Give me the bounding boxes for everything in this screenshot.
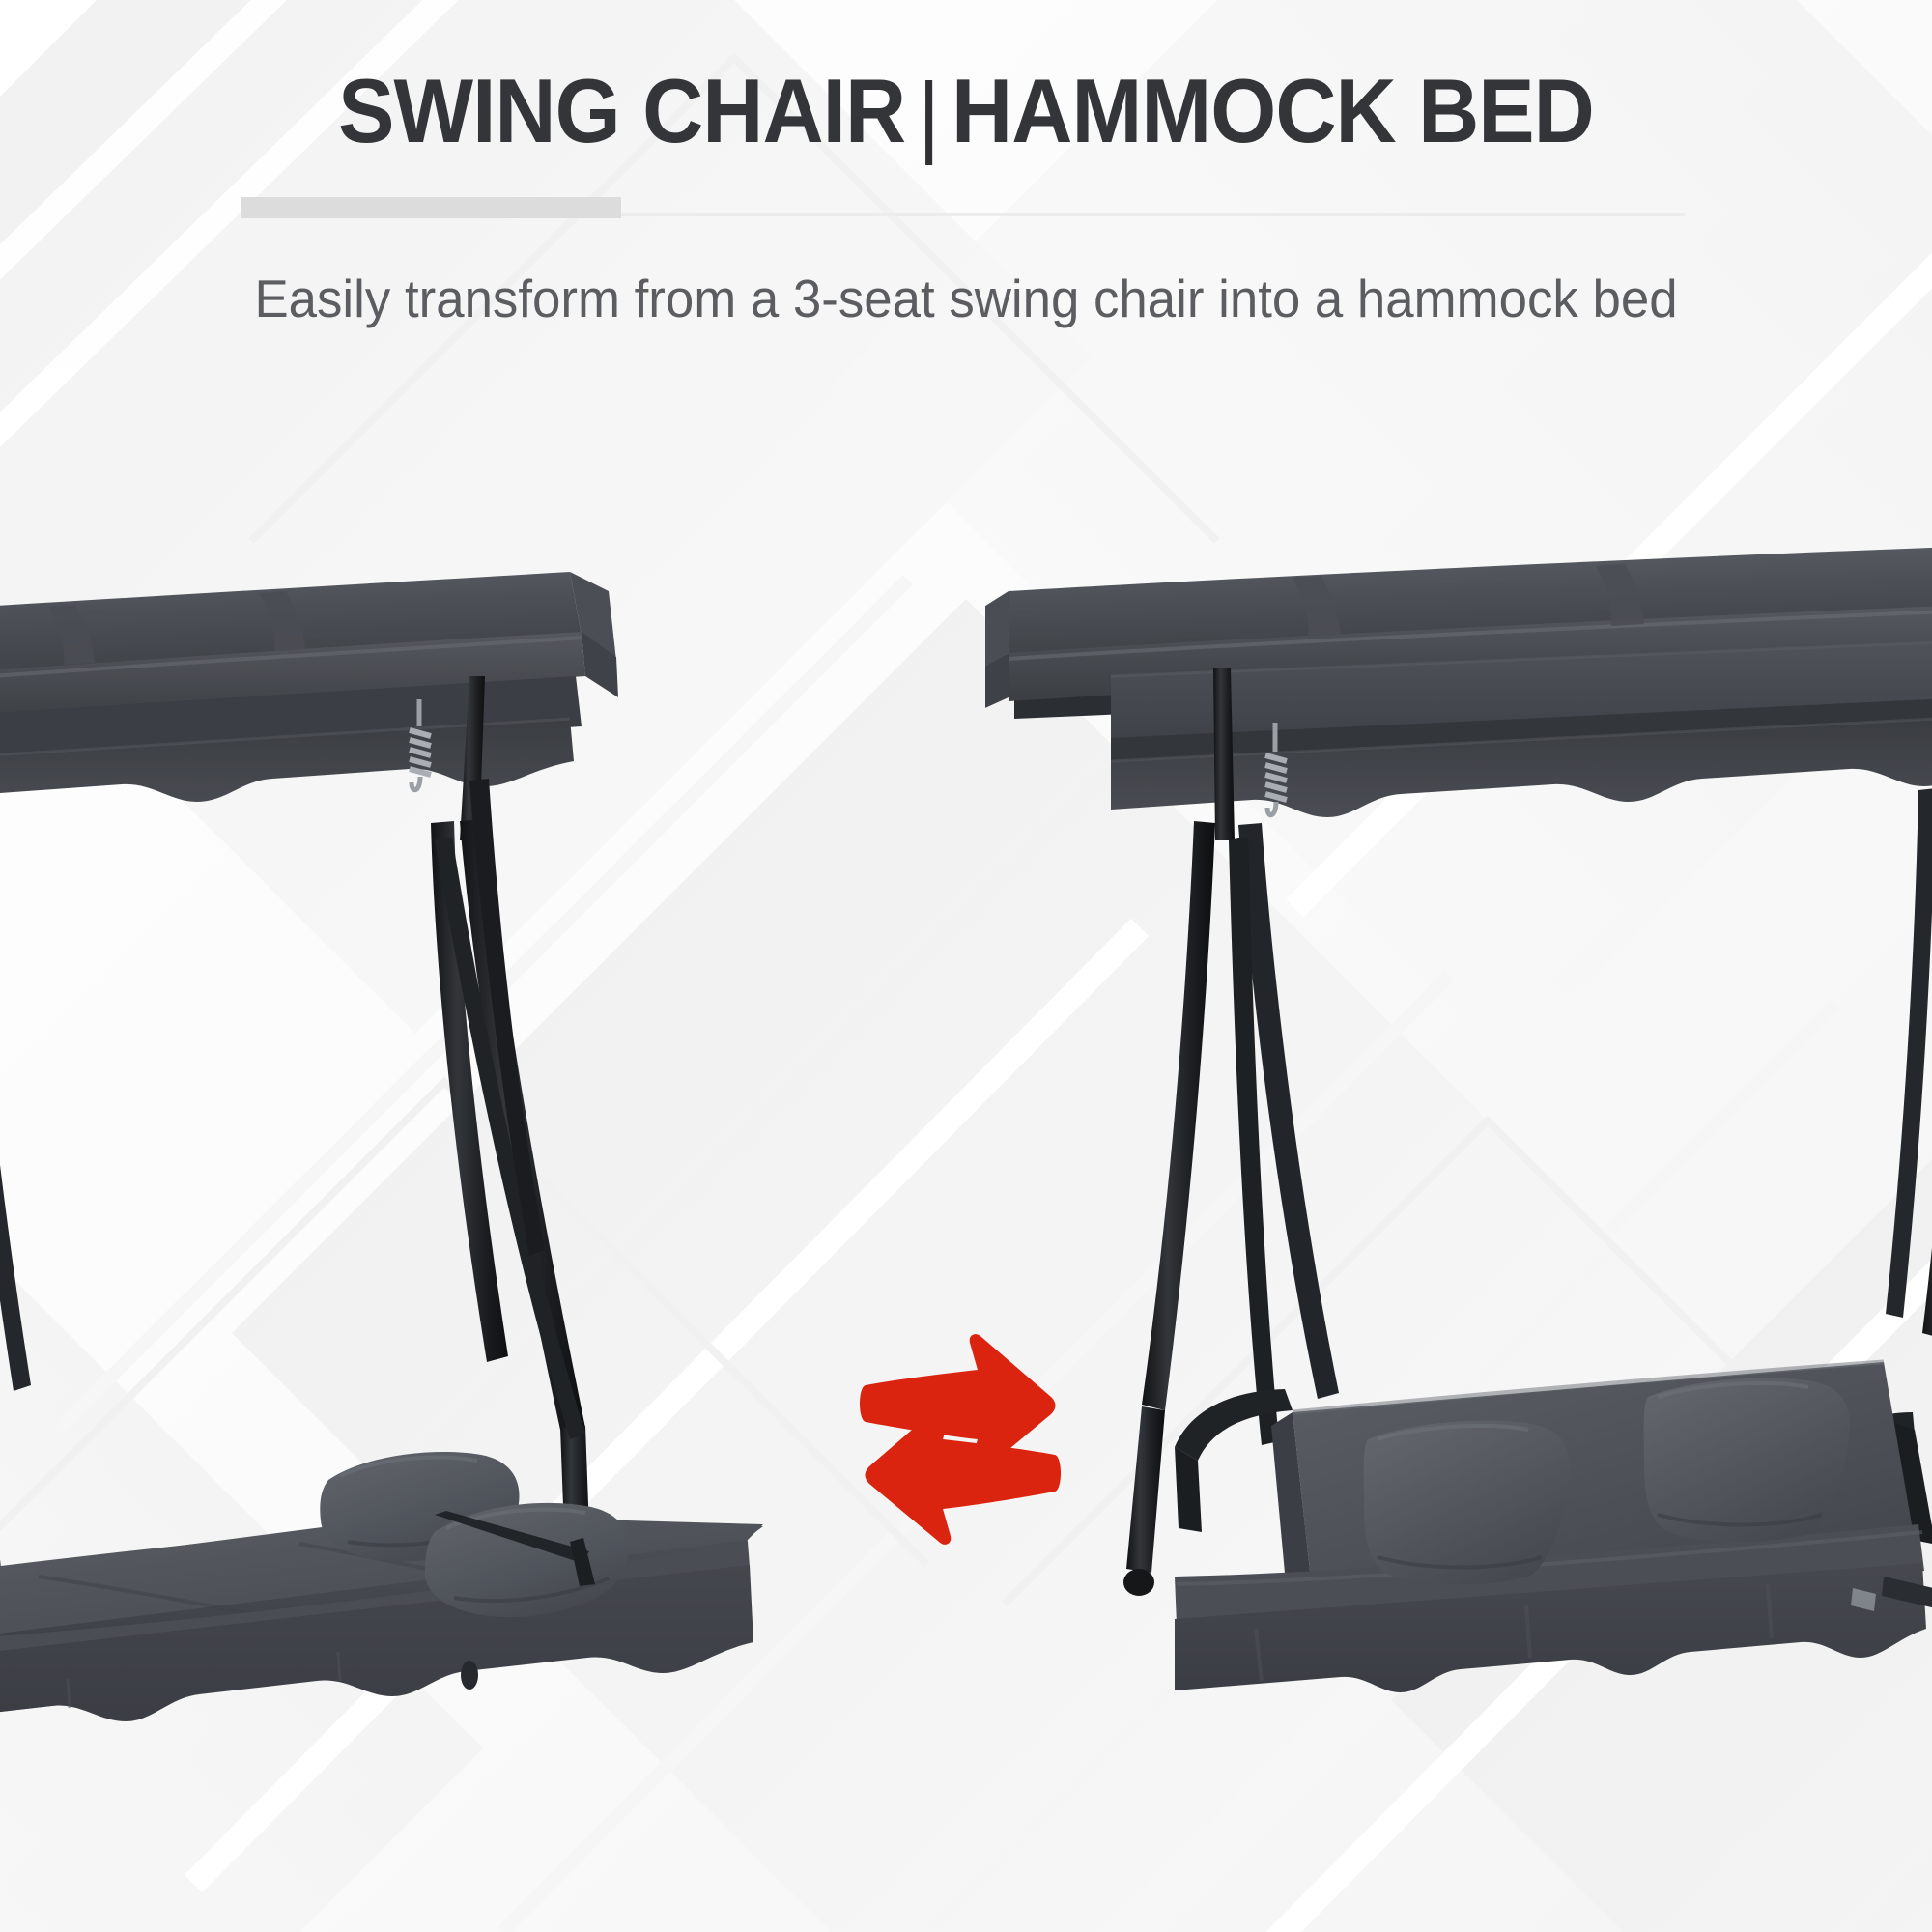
canopy-right — [985, 545, 1932, 817]
page-subtitle: Easily transform from a 3-seat swing cha… — [39, 272, 1893, 326]
title-part-swing-chair: SWING CHAIR — [338, 60, 905, 161]
page-title: SWING CHAIR|HAMMOCK BED — [68, 66, 1864, 156]
product-stage — [0, 386, 1932, 1932]
title-divider — [0, 197, 1932, 218]
title-part-hammock-bed: HAMMOCK BED — [952, 60, 1594, 161]
product-image-hammock-bed — [0, 386, 908, 1932]
pillow-left-right-unit — [1364, 1421, 1570, 1585]
transform-arrows — [850, 1314, 1092, 1565]
header: SWING CHAIR|HAMMOCK BED Easily transform… — [0, 0, 1932, 386]
canopy-left — [0, 572, 618, 817]
pillow-right-right-unit — [1644, 1378, 1850, 1543]
divider-accent-bar — [241, 197, 621, 218]
product-image-swing-chair — [985, 386, 1932, 1932]
title-separator: | — [905, 70, 952, 160]
